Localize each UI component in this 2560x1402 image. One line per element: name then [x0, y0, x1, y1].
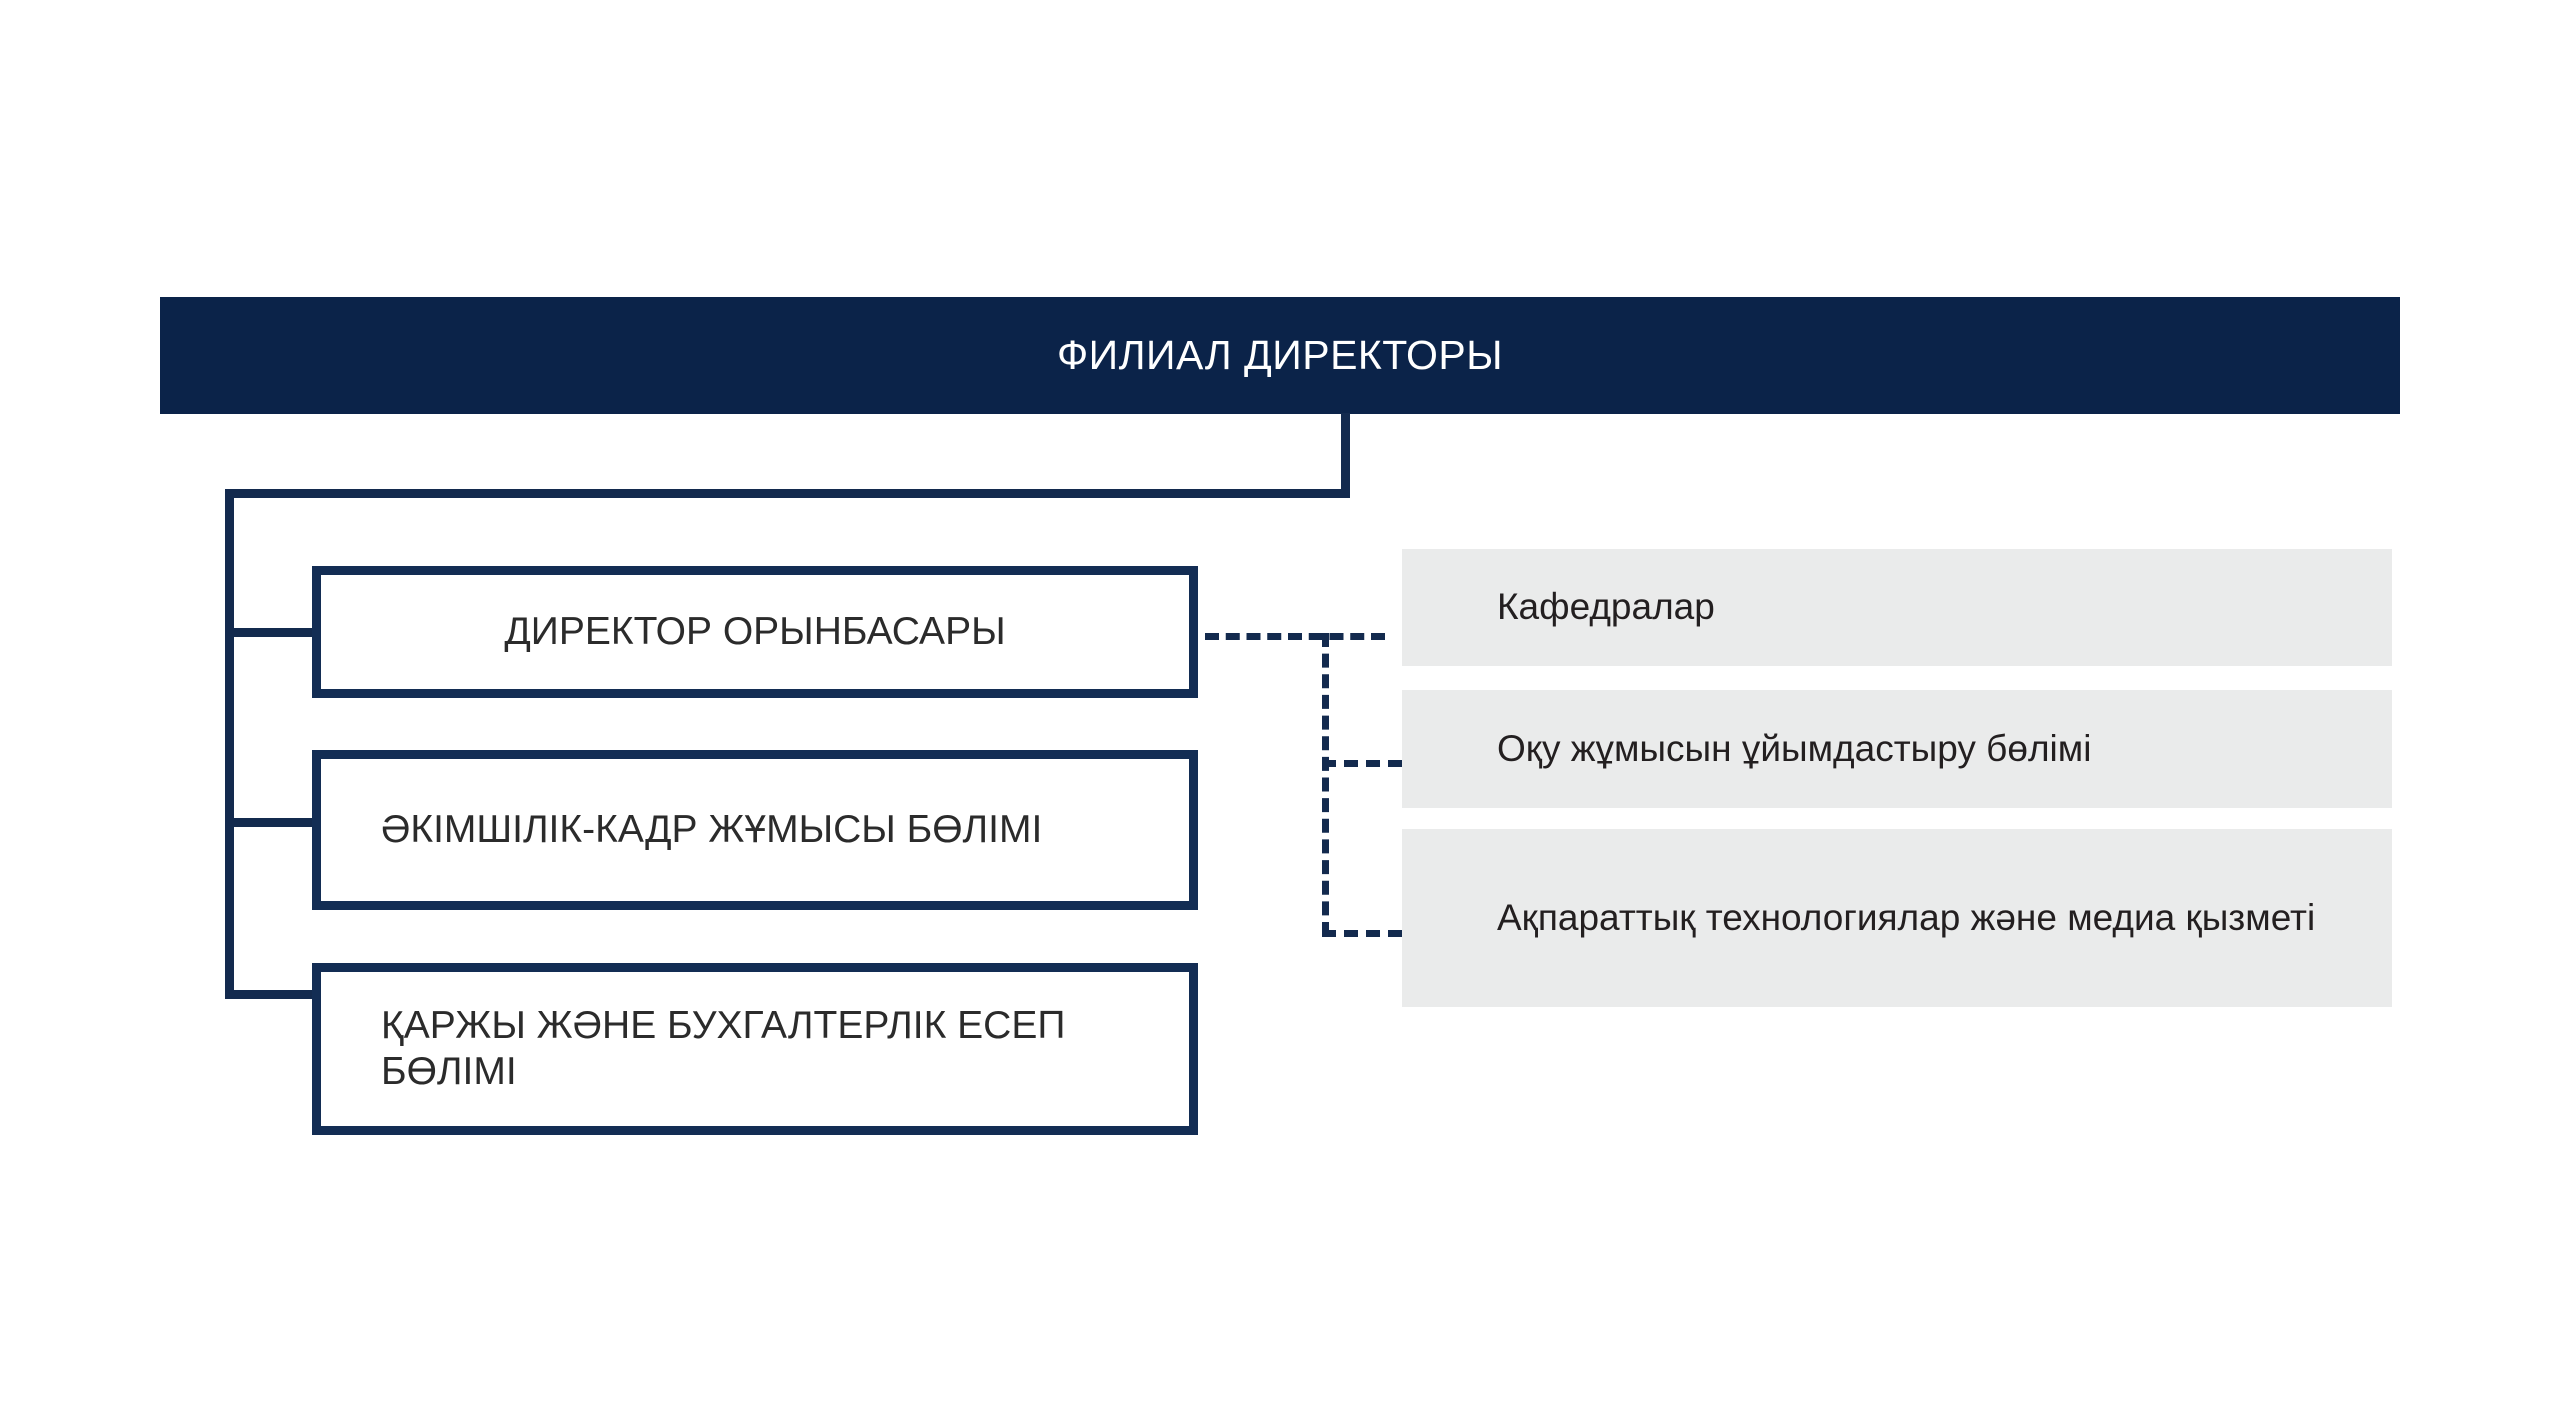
org-node-director[interactable]: ФИЛИАЛ ДИРЕКТОРЫ — [160, 297, 2400, 414]
org-node-finance-accounting-department-label: ҚАРЖЫ ЖӘНЕ БУХГАЛТЕРЛІК ЕСЕП БӨЛІМІ — [381, 1003, 1165, 1095]
org-node-it-media-service-label: Ақпараттық технологиялар және медиа қызм… — [1497, 894, 2315, 942]
connector-stub-unit-3 — [225, 990, 317, 999]
connector-dotted-horizontal-middle — [1322, 760, 1402, 767]
connector-dotted-horizontal-top — [1205, 633, 1385, 640]
org-node-academic-affairs-unit-label: Оқу жұмысын ұйымдастыру бөлімі — [1497, 725, 2091, 773]
org-node-deputy-director-label: ДИРЕКТОР ОРЫНБАСАРЫ — [504, 609, 1005, 655]
org-node-admin-hr-department[interactable]: ӘКІМШІЛІК-КАДР ЖҰМЫСЫ БӨЛІМІ — [312, 750, 1198, 910]
connector-dotted-horizontal-bottom — [1322, 930, 1402, 937]
connector-left-trunk — [225, 489, 234, 999]
org-node-academic-affairs-unit[interactable]: Оқу жұмысын ұйымдастыру бөлімі — [1402, 690, 2392, 808]
org-node-admin-hr-department-label: ӘКІМШІЛІК-КАДР ЖҰМЫСЫ БӨЛІМІ — [381, 807, 1042, 853]
connector-stub-unit-1 — [225, 628, 317, 637]
org-node-it-media-service[interactable]: Ақпараттық технологиялар және медиа қызм… — [1402, 829, 2392, 1007]
connector-dotted-vertical — [1322, 633, 1329, 936]
org-node-director-label: ФИЛИАЛ ДИРЕКТОРЫ — [1057, 333, 1503, 378]
org-node-deputy-director[interactable]: ДИРЕКТОР ОРЫНБАСАРЫ — [312, 566, 1198, 698]
org-chart-canvas: ФИЛИАЛ ДИРЕКТОРЫ ДИРЕКТОР ОРЫНБАСАРЫ ӘКІ… — [0, 0, 2560, 1402]
org-node-finance-accounting-department[interactable]: ҚАРЖЫ ЖӘНЕ БУХГАЛТЕРЛІК ЕСЕП БӨЛІМІ — [312, 963, 1198, 1135]
connector-root-horizontal — [225, 489, 1350, 498]
org-node-departments-kafedralar[interactable]: Кафедралар — [1402, 549, 2392, 666]
connector-root-vertical — [1341, 413, 1350, 498]
connector-stub-unit-2 — [225, 818, 317, 827]
org-node-departments-kafedralar-label: Кафедралар — [1497, 583, 1715, 631]
